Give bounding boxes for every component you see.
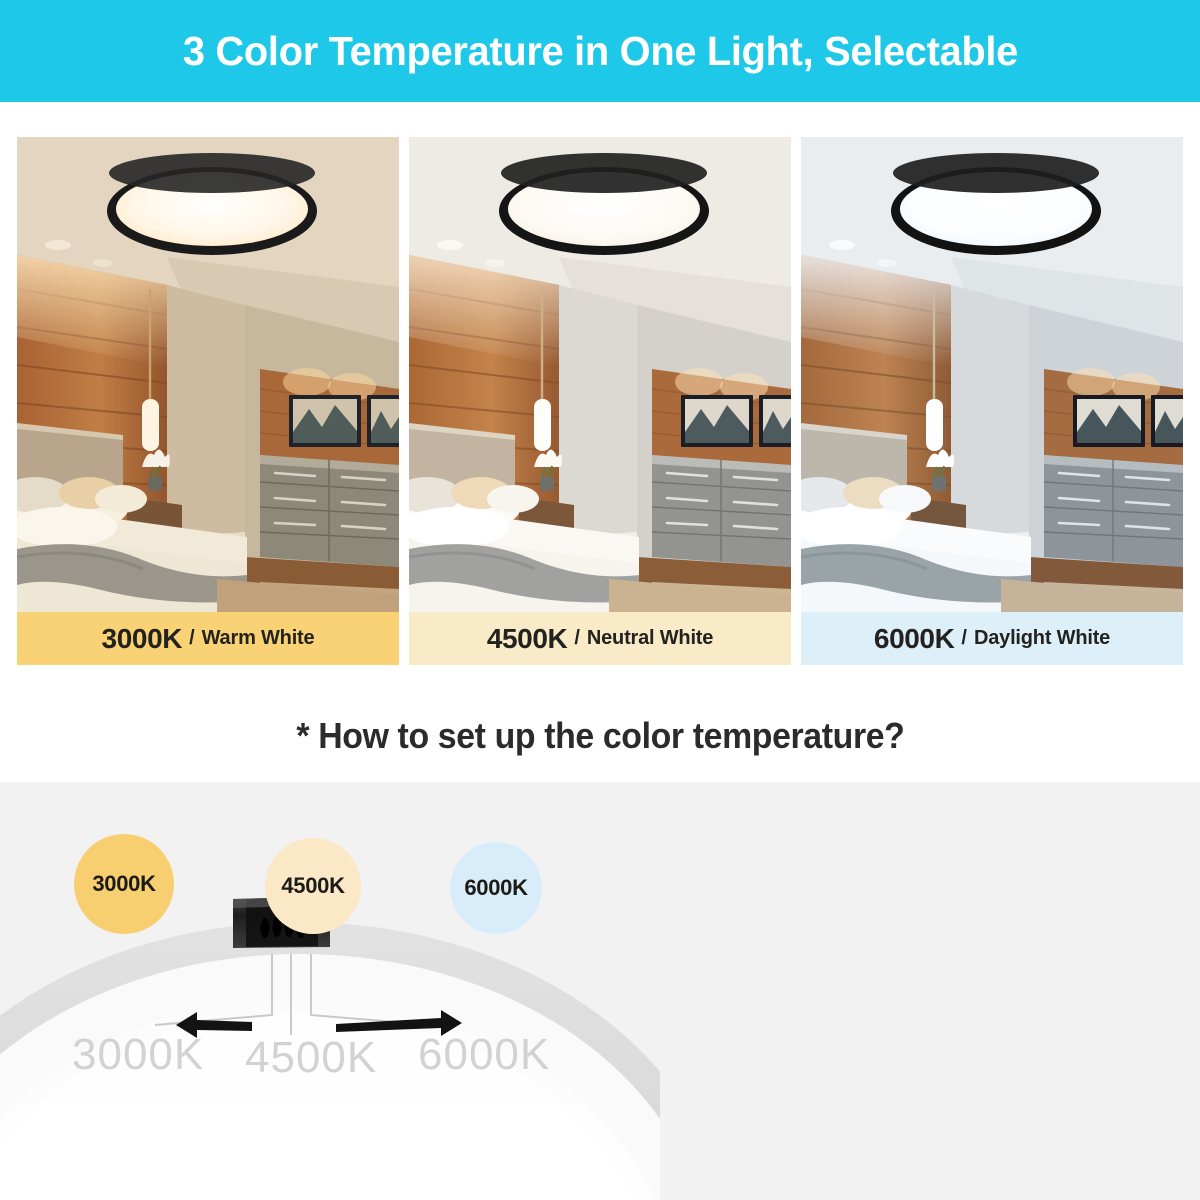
lamp-label-6000k: 6000K bbox=[418, 1030, 550, 1079]
banner-title: 3 Color Temperature in One Light, Select… bbox=[182, 28, 1017, 75]
bedroom-photo-3000k bbox=[17, 137, 399, 612]
temp-badge-label: 3000K bbox=[92, 871, 155, 897]
caption-name: Daylight White bbox=[974, 627, 1110, 650]
caption-6000k: 6000K / Daylight White bbox=[801, 612, 1183, 665]
temp-badge-label: 6000K bbox=[464, 875, 527, 901]
caption-separator: / bbox=[189, 627, 195, 650]
product-infographic: 3 Color Temperature in One Light, Select… bbox=[0, 0, 1200, 1200]
setup-question-heading: * How to set up the color temperature? bbox=[0, 690, 1200, 782]
comparison-panel-3000k: 3000K / Warm White bbox=[17, 137, 399, 665]
temp-badge-6000k[interactable]: 6000K bbox=[450, 842, 542, 934]
header-banner: 3 Color Temperature in One Light, Select… bbox=[0, 0, 1200, 102]
comparison-panel-group: 3000K / Warm White bbox=[17, 137, 1183, 665]
temp-badge-4500k[interactable]: 4500K bbox=[265, 838, 361, 934]
caption-4500k: 4500K / Neutral White bbox=[409, 612, 791, 665]
caption-3000k: 3000K / Warm White bbox=[17, 612, 399, 665]
lamp-label-3000k: 3000K bbox=[72, 1030, 204, 1079]
comparison-panel-6000k: 6000K / Daylight White bbox=[801, 137, 1183, 665]
caption-name: Neutral White bbox=[587, 627, 713, 650]
bedroom-photo-6000k bbox=[801, 137, 1183, 612]
lamp-label-4500k: 4500K bbox=[245, 1033, 377, 1082]
caption-separator: / bbox=[961, 627, 967, 650]
caption-separator: / bbox=[574, 627, 580, 650]
caption-kelvin: 3000K bbox=[102, 623, 183, 655]
bedroom-photo-4500k bbox=[409, 137, 791, 612]
setup-instructions-section: 3000K 4500K 6000K Easy Control Switch 1.… bbox=[0, 782, 1200, 1200]
caption-name: Warm White bbox=[202, 627, 315, 650]
setup-question-text: * How to set up the color temperature? bbox=[296, 715, 904, 757]
caption-kelvin: 6000K bbox=[874, 623, 955, 655]
temp-badge-3000k[interactable]: 3000K bbox=[74, 834, 174, 934]
temp-badge-label: 4500K bbox=[281, 873, 344, 899]
comparison-panel-4500k: 4500K / Neutral White bbox=[409, 137, 791, 665]
caption-kelvin: 4500K bbox=[487, 623, 568, 655]
